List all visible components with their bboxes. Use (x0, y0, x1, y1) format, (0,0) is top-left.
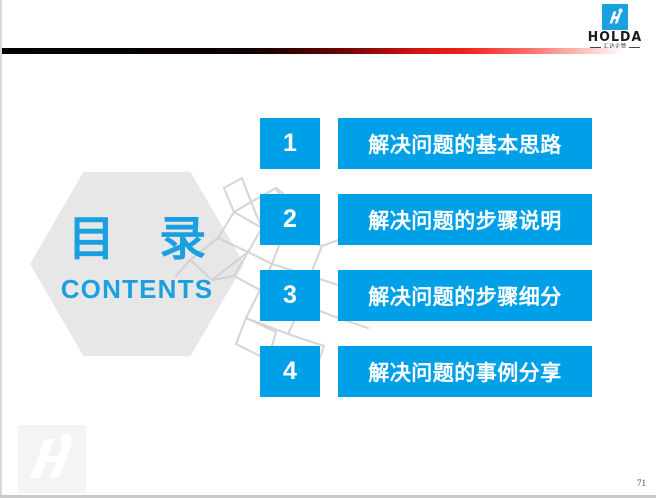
brand-logo: HOLDA 汇达企管 (582, 4, 648, 50)
slide-left-edge (0, 0, 2, 498)
brand-wordmark: HOLDA (582, 31, 648, 44)
toc-heading: 目 录 CONTENTS (34, 216, 240, 302)
contents-item-label: 解决问题的步骤说明 (338, 194, 592, 245)
contents-item-2[interactable]: 2 解决问题的步骤说明 (260, 194, 592, 245)
presentation-slide: HOLDA 汇达企管 目 (0, 0, 656, 498)
contents-item-1[interactable]: 1 解决问题的基本思路 (260, 118, 592, 169)
contents-item-spacer (320, 270, 338, 321)
contents-item-label: 解决问题的基本思路 (338, 118, 592, 169)
page-number: 71 (637, 478, 646, 488)
toc-title-english: CONTENTS (34, 276, 240, 302)
holda-hi-mark-icon (602, 4, 628, 30)
contents-item-number: 3 (260, 270, 320, 321)
contents-item-3[interactable]: 3 解决问题的步骤细分 (260, 270, 592, 321)
contents-item-number: 1 (260, 118, 320, 169)
contents-item-number: 4 (260, 346, 320, 397)
contents-item-label: 解决问题的步骤细分 (338, 270, 592, 321)
contents-item-spacer (320, 194, 338, 245)
hi-logo-icon (18, 425, 86, 493)
contents-list: 1 解决问题的基本思路 2 解决问题的步骤说明 3 解决问题的步骤细分 4 解决… (260, 118, 592, 397)
contents-item-spacer (320, 118, 338, 169)
contents-item-number: 2 (260, 194, 320, 245)
toc-title-chinese: 目 录 (34, 216, 240, 263)
contents-item-spacer (320, 346, 338, 397)
contents-item-4[interactable]: 4 解决问题的事例分享 (260, 346, 592, 397)
contents-item-label: 解决问题的事例分享 (338, 346, 592, 397)
header-gradient-rule (0, 48, 656, 54)
